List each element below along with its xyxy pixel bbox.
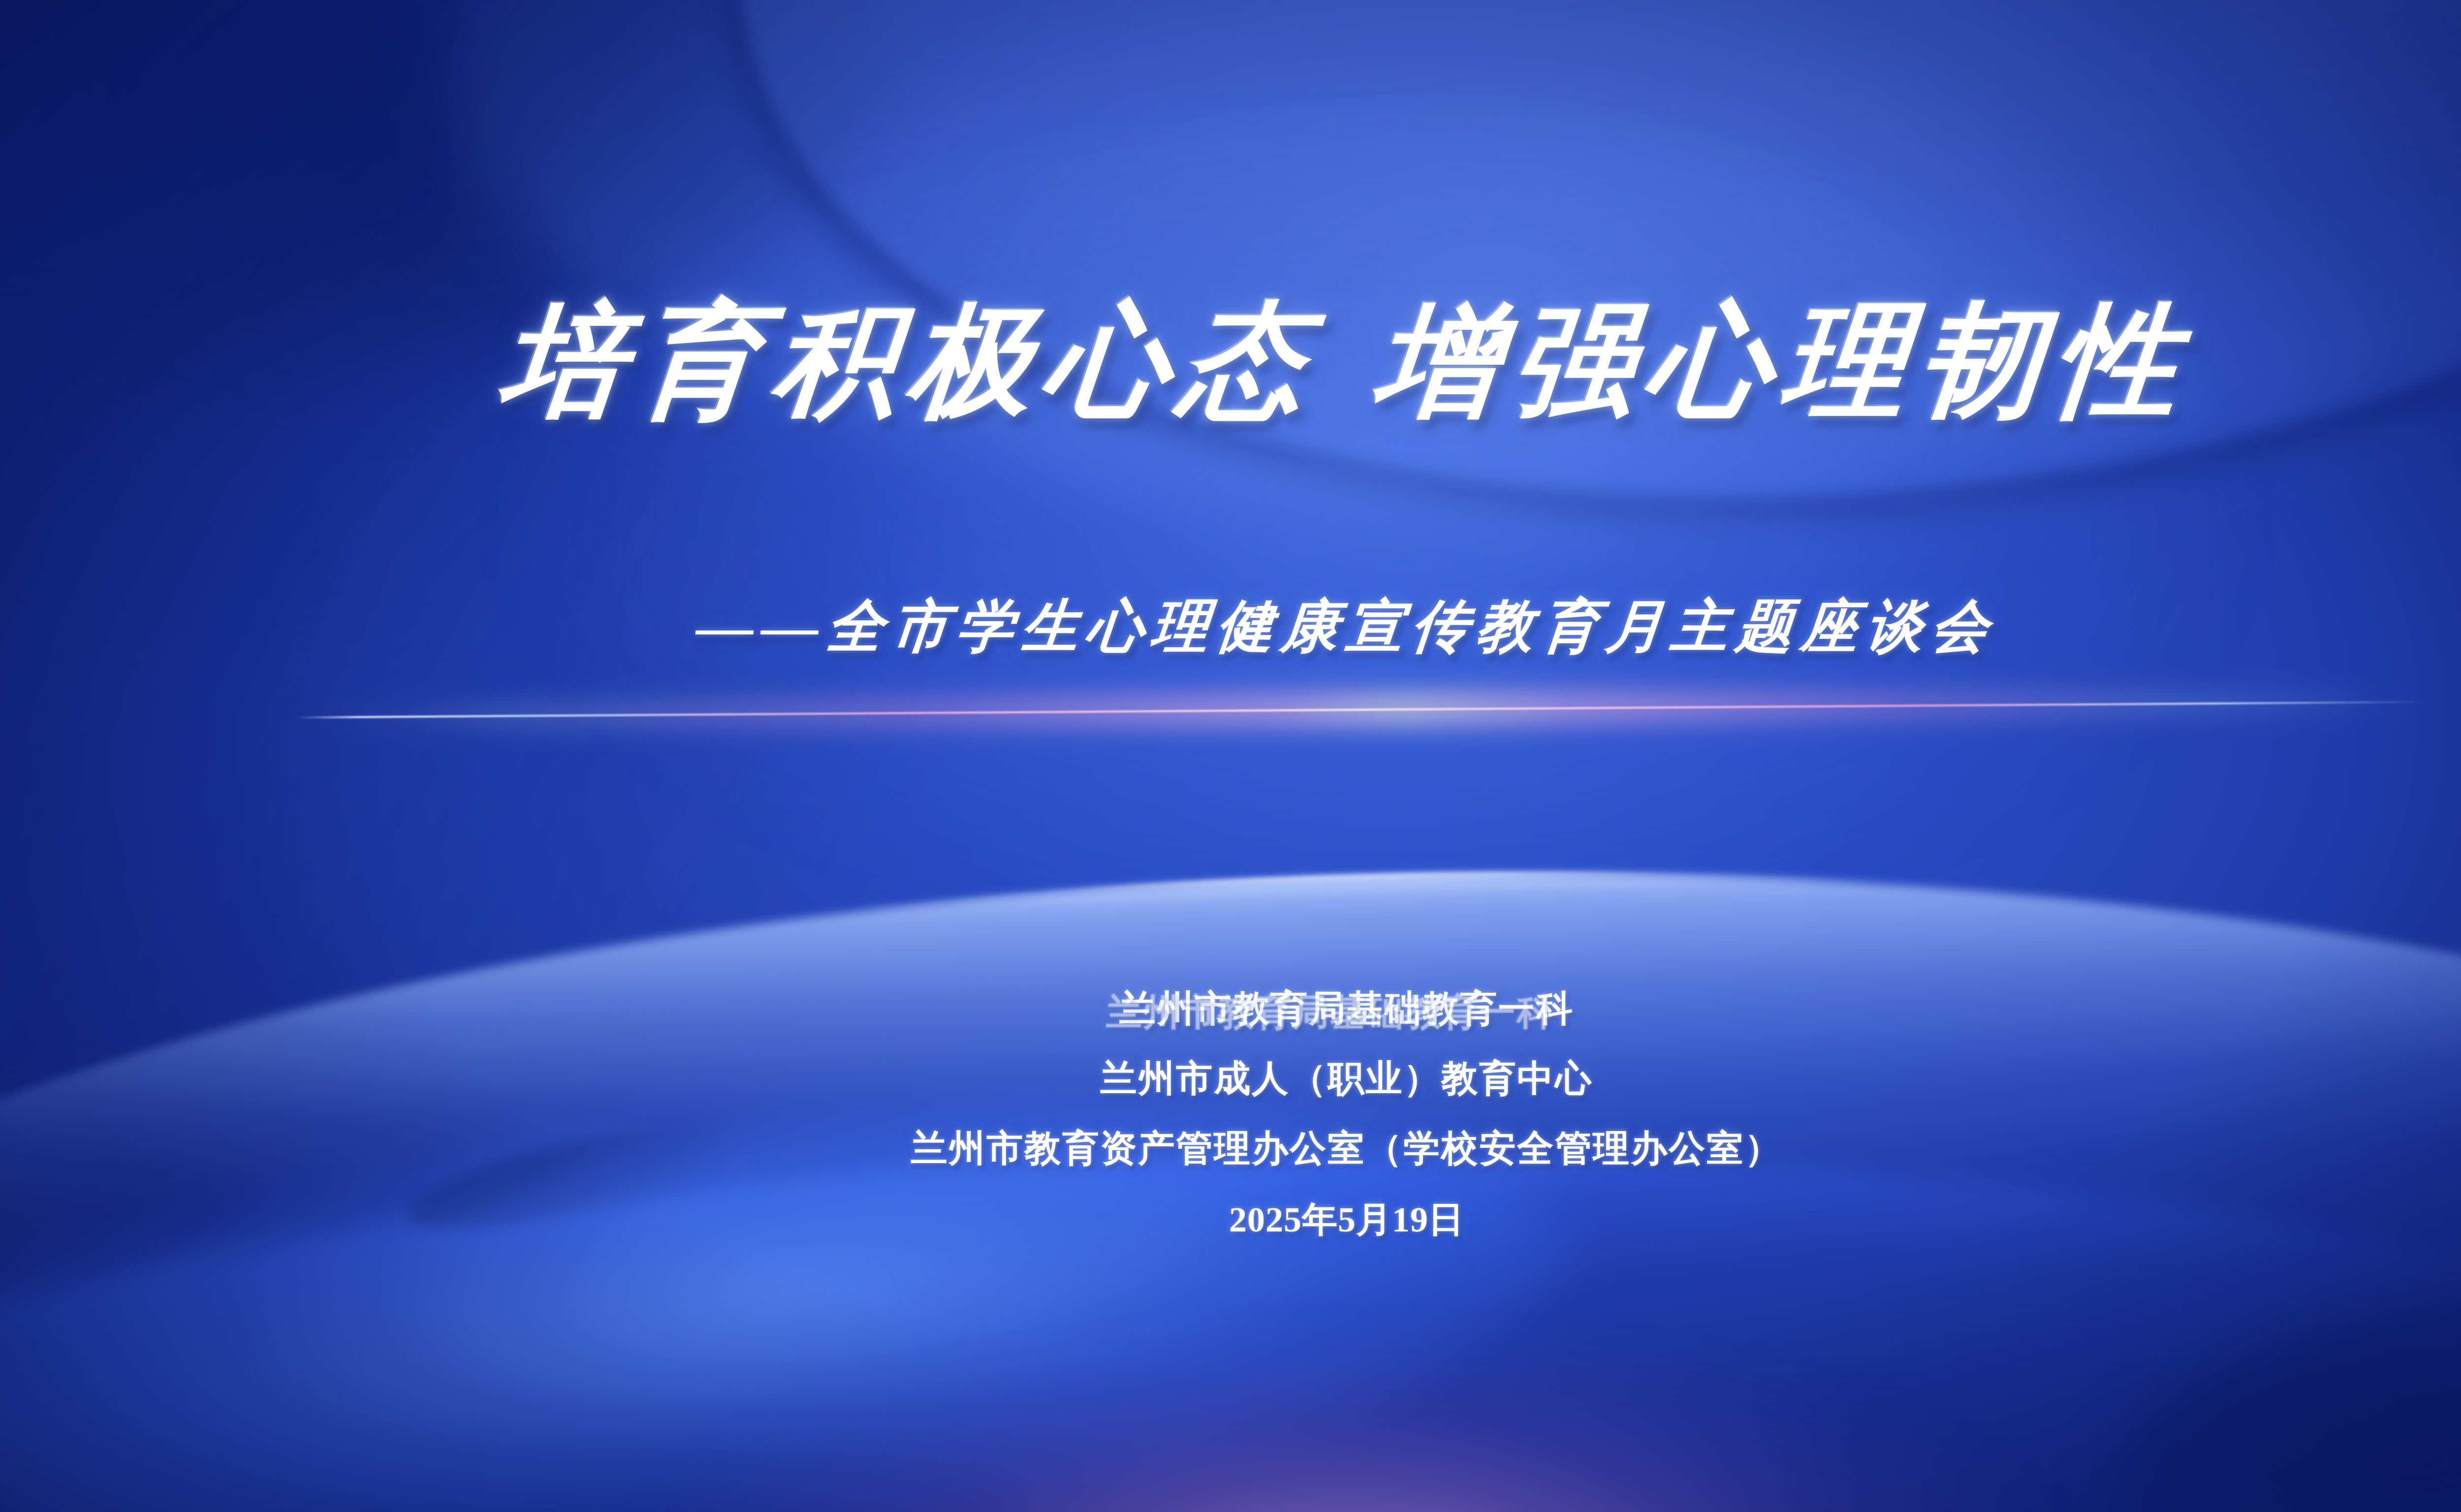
slide-canvas: 培育积极心态增强心理韧性 ——全市学生心理健康宣传教育月主题座谈会 兰州市教育局… bbox=[0, 0, 2461, 1512]
organizer-line-3: 兰州市教育资产管理办公室（学校安全管理办公室） bbox=[0, 1124, 2461, 1173]
glow-divider-core bbox=[295, 701, 2427, 719]
headline-left-phrase: 培育积极心态 bbox=[496, 293, 1323, 430]
headline-block: 培育积极心态增强心理韧性 bbox=[0, 295, 2461, 428]
subtitle-block: ——全市学生心理健康宣传教育月主题座谈会 bbox=[0, 588, 2461, 665]
headline-right-phrase: 增强心理韧性 bbox=[1370, 293, 2197, 430]
subtitle-text: ——全市学生心理健康宣传教育月主题座谈会 bbox=[694, 588, 2000, 665]
event-date: 2025年5月19日 bbox=[0, 1196, 2461, 1243]
slide-content: 培育积极心态增强心理韧性 ——全市学生心理健康宣传教育月主题座谈会 兰州市教育局… bbox=[0, 0, 2461, 1512]
organizer-line-2: 兰州市成人（职业）教育中心 bbox=[0, 1054, 2461, 1103]
glow-divider-halo bbox=[295, 685, 2427, 733]
organizer-line-1: 兰州市教育局基础教育一科 兰州市教育局基础教育一科 bbox=[0, 984, 2461, 1034]
organizer-line-1-text: 兰州市教育局基础教育一科 bbox=[1119, 988, 1574, 1029]
headline-title: 培育积极心态增强心理韧性 bbox=[496, 295, 2197, 428]
organizer-block: 兰州市教育局基础教育一科 兰州市教育局基础教育一科 兰州市成人（职业）教育中心 … bbox=[0, 984, 2461, 1243]
glow-divider bbox=[295, 698, 2427, 722]
